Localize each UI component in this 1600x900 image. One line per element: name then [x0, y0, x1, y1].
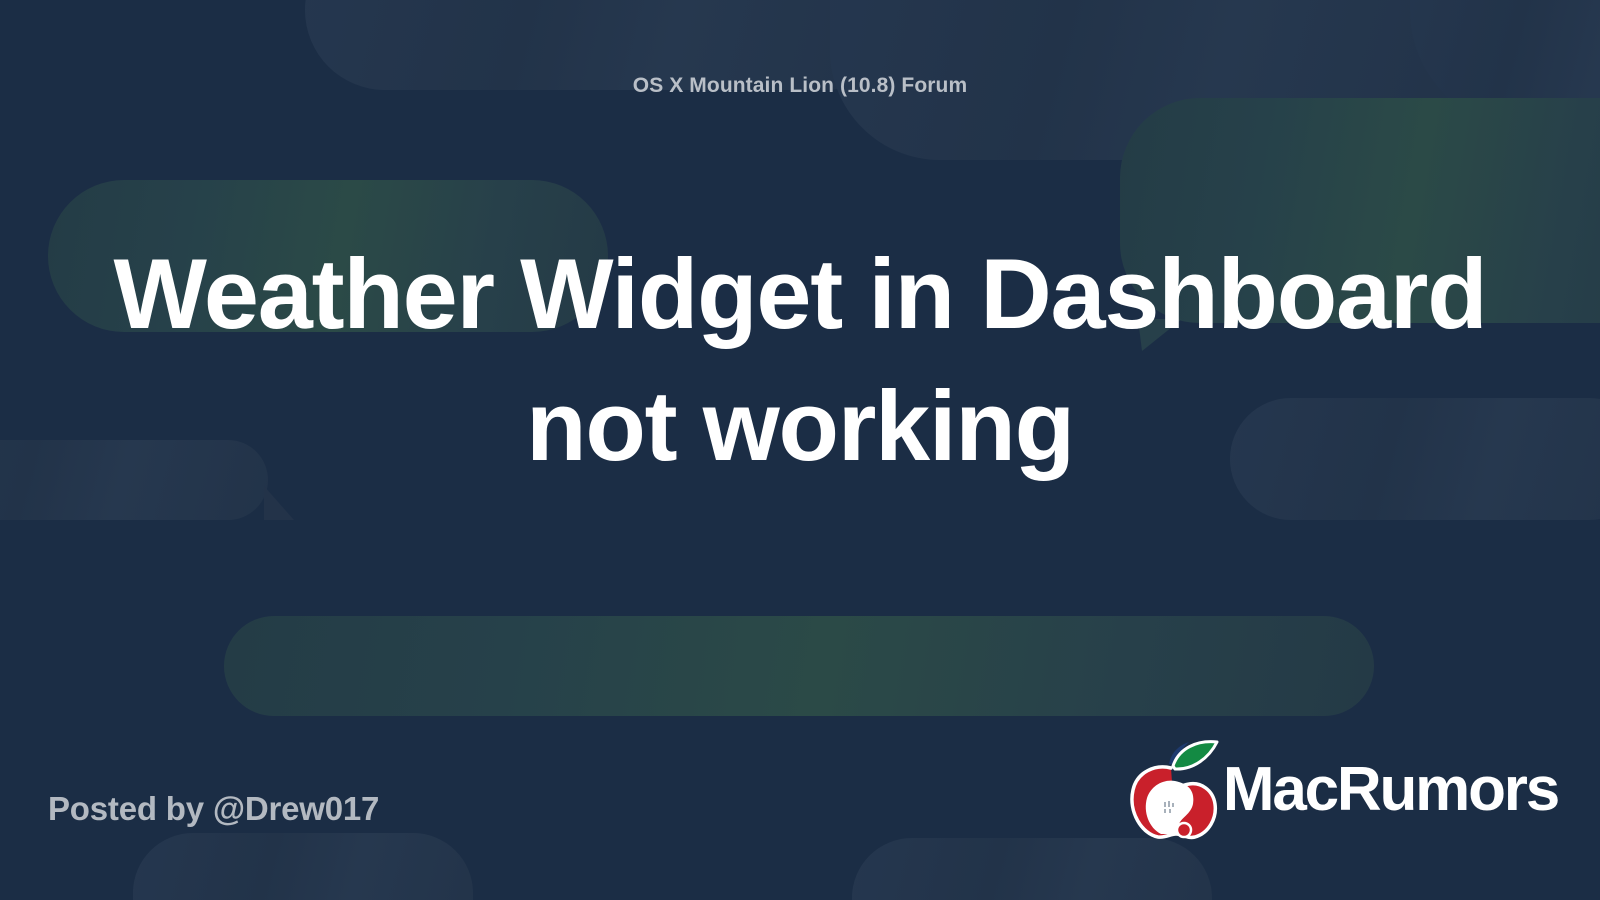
forum-label: OS X Mountain Lion (10.8) Forum [0, 74, 1600, 98]
social-share-card: OS X Mountain Lion (10.8) Forum Weather … [0, 0, 1600, 900]
card-content: OS X Mountain Lion (10.8) Forum Weather … [0, 0, 1600, 900]
page-title: Weather Widget in Dashboard not working [64, 228, 1536, 491]
macrumors-apple-question-mark-icon [1125, 738, 1221, 842]
macrumors-brand-lockup: MacRumors [1125, 738, 1558, 842]
post-author-byline: Posted by @Drew017 [48, 790, 379, 828]
macrumors-wordmark: MacRumors [1223, 759, 1558, 821]
